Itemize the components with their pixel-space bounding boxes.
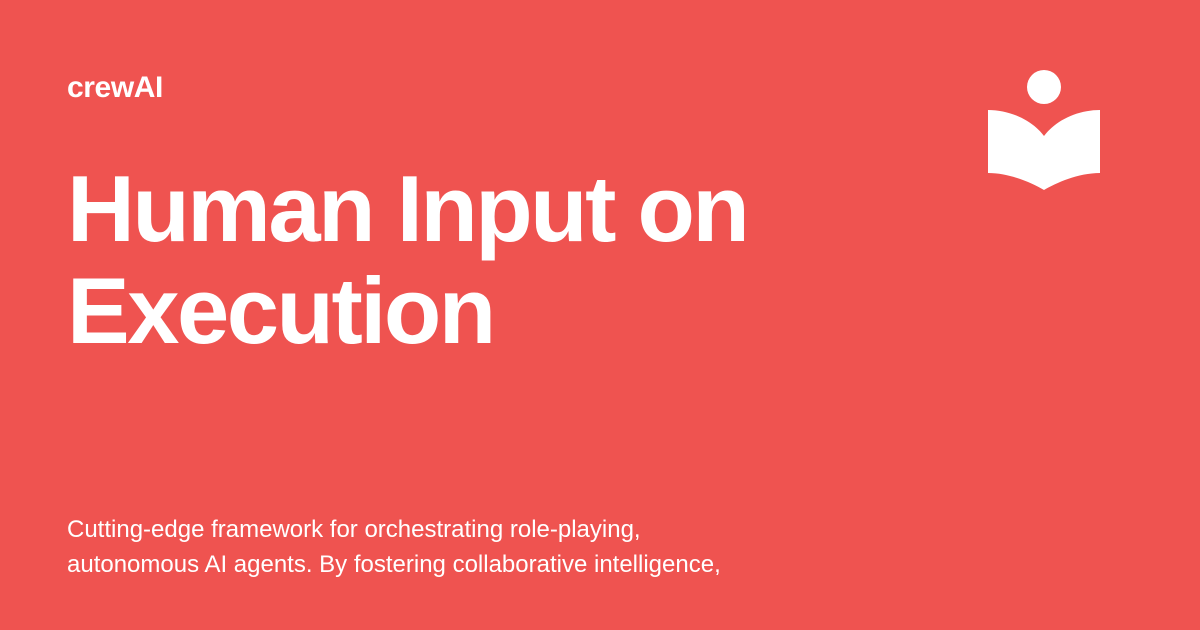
- brand-wordmark: crewAI: [67, 70, 163, 106]
- open-book-person-icon: [984, 62, 1104, 198]
- page-description: Cutting-edge framework for orchestrating…: [67, 512, 927, 582]
- page-title: Human Input on Execution: [67, 158, 887, 362]
- description-line: autonomous AI agents. By fostering colla…: [67, 547, 927, 582]
- og-card: crewAI Human Input on Execution Cutting-…: [0, 0, 1200, 630]
- description-line: Cutting-edge framework for orchestrating…: [67, 512, 927, 547]
